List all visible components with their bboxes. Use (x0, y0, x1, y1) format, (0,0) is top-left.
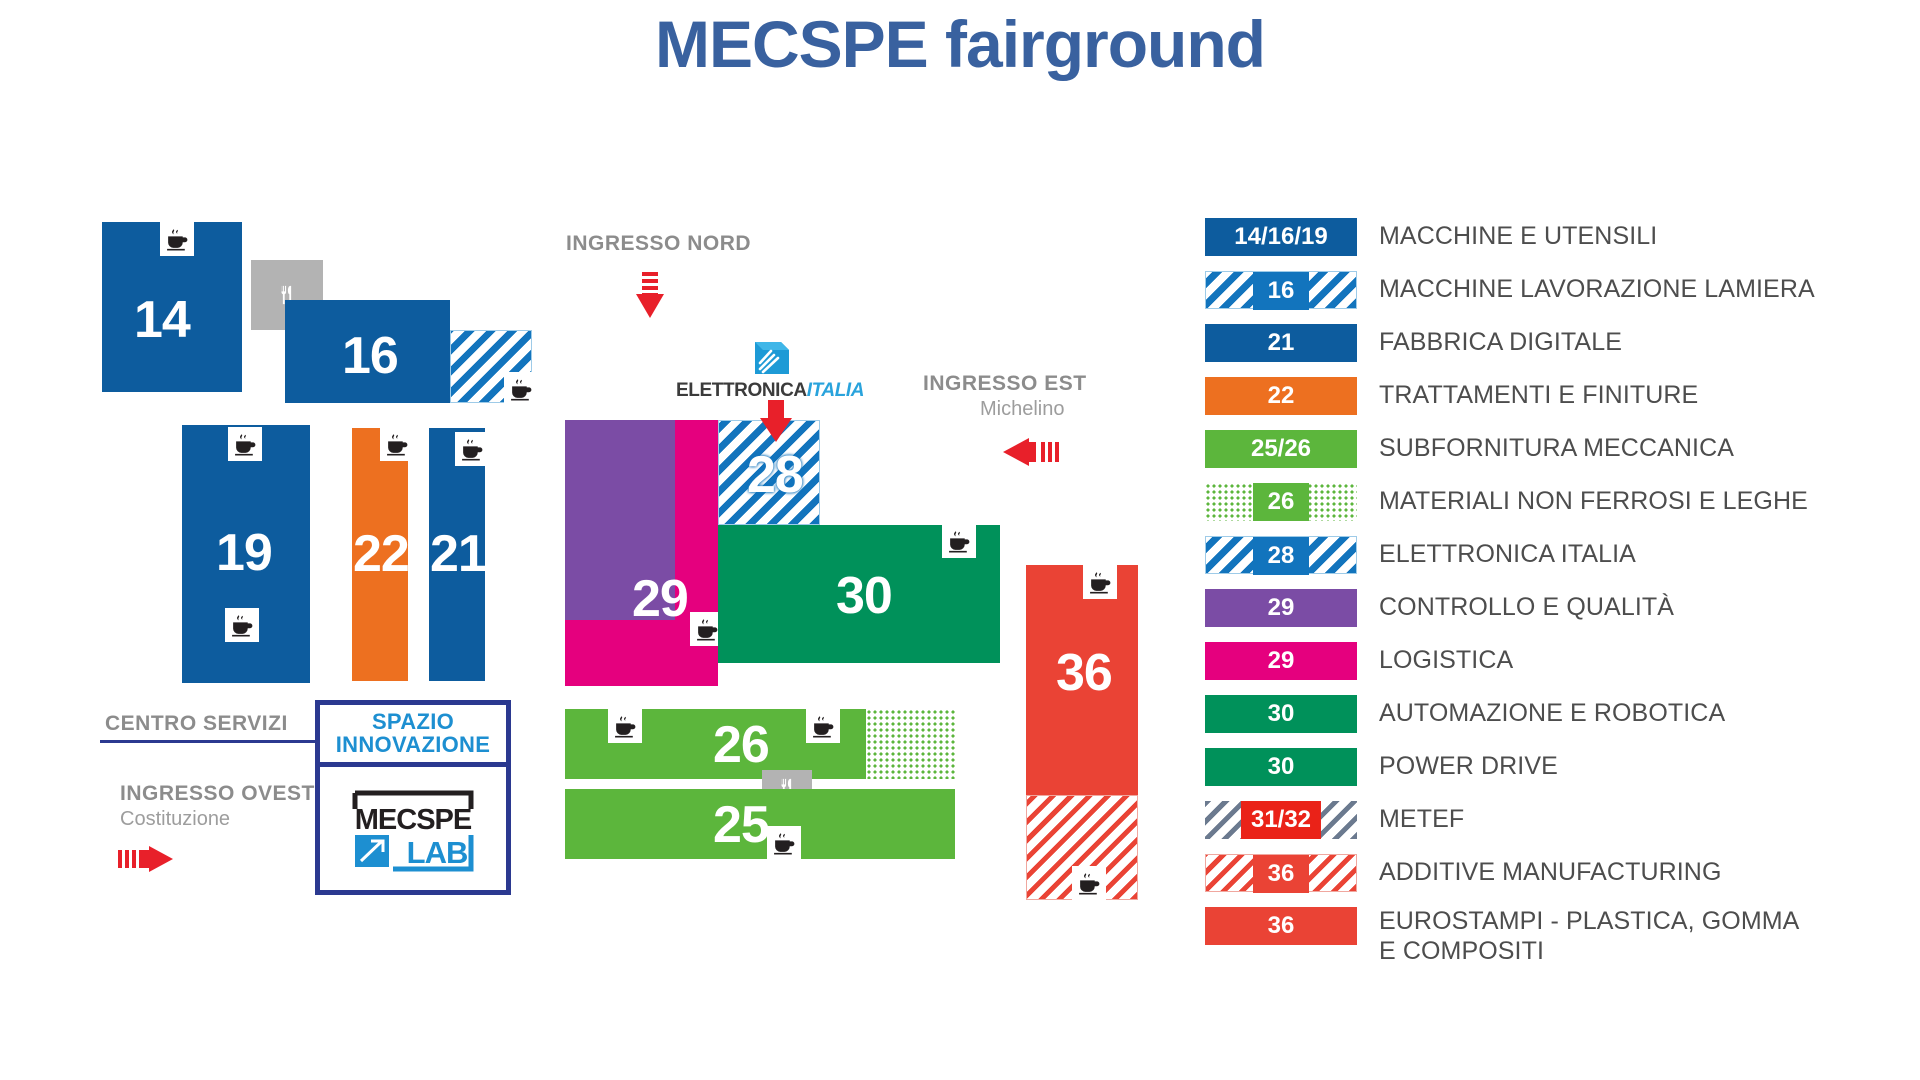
legend-code: 31/32 (1241, 801, 1321, 839)
legend-code: 30 (1268, 700, 1295, 728)
legend-row: 31/32METEF (1205, 801, 1905, 839)
legend-swatch: 30 (1205, 748, 1357, 786)
hall-36-number: 36 (1056, 647, 1112, 699)
legend-label: TRATTAMENTI E FINITURE (1379, 381, 1698, 411)
legend-code: 22 (1268, 382, 1295, 410)
legend-label: MATERIALI NON FERROSI E LEGHE (1379, 487, 1808, 517)
coffee-icon (380, 427, 414, 461)
legend-code: 36 (1253, 855, 1309, 893)
coffee-icon (455, 432, 489, 466)
legend-label: FABBRICA DIGITALE (1379, 328, 1622, 358)
legend-code: 30 (1268, 753, 1295, 781)
legend-row: 28ELETTRONICA ITALIA (1205, 536, 1905, 574)
legend-row: 14/16/19MACCHINE E UTENSILI (1205, 218, 1905, 256)
arrow-icon (756, 400, 796, 449)
legend-swatch: 29 (1205, 642, 1357, 680)
centro-servizi-connector (100, 740, 315, 743)
legend-swatch: 31/32 (1205, 801, 1357, 839)
legend-label: LOGISTICA (1379, 646, 1513, 676)
legend-label: SUBFORNITURA MECCANICA (1379, 434, 1734, 464)
ingresso-ovest-sublabel: Costituzione (120, 808, 230, 831)
coffee-icon (1083, 565, 1117, 599)
spazio-innovazione-box[interactable]: SPAZIO INNOVAZIONE MECSPE LAB (315, 700, 511, 895)
legend-label: CONTROLLO E QUALITÀ (1379, 593, 1674, 623)
centro-servizi-label: CENTRO SERVIZI (105, 712, 288, 736)
legend-label: ELETTRONICA ITALIA (1379, 540, 1636, 570)
legend-swatch: 14/16/19 (1205, 218, 1357, 256)
legend-label: AUTOMAZIONE E ROBOTICA (1379, 699, 1725, 729)
legend-code: 14/16/19 (1234, 223, 1327, 251)
legend-label: MACCHINE LAVORAZIONE LAMIERA (1379, 275, 1815, 305)
hall-25-number: 25 (713, 799, 769, 851)
ingresso-nord-label: INGRESSO NORD (566, 232, 751, 256)
coffee-icon (1072, 866, 1106, 900)
mecspe-lab-logo: MECSPE LAB (320, 767, 506, 890)
legend-code: 26 (1253, 483, 1309, 521)
hall-25[interactable]: 25 (565, 789, 955, 859)
legend-label: ADDITIVE MANUFACTURING (1379, 858, 1722, 888)
coffee-icon (942, 524, 976, 558)
legend-swatch: 29 (1205, 589, 1357, 627)
legend-row: 22TRATTAMENTI E FINITURE (1205, 377, 1905, 415)
hall-19-number: 19 (216, 527, 272, 579)
hall-22[interactable]: 22 (352, 428, 408, 681)
coffee-icon (504, 372, 538, 406)
hall-19[interactable]: 19 (182, 425, 310, 683)
legend-swatch: 16 (1205, 271, 1357, 309)
legend-row: 30AUTOMAZIONE E ROBOTICA (1205, 695, 1905, 733)
coffee-icon (608, 709, 642, 743)
hall-21-number: 21 (430, 528, 485, 580)
fairground-map: 14 16 19 22 21 29 28 (0, 0, 1200, 1080)
ingresso-est-sublabel: Michelino (980, 398, 1064, 421)
legend-label: POWER DRIVE (1379, 752, 1558, 782)
svg-text:MECSPE: MECSPE (355, 804, 472, 836)
legend-row: 36EUROSTAMPI - PLASTICA, GOMMA E COMPOSI… (1205, 907, 1905, 959)
elettronica-word: ELETTRONICA (676, 380, 807, 401)
hall-16-number: 16 (342, 330, 398, 382)
legend-label: EUROSTAMPI - PLASTICA, GOMMA E COMPOSITI (1379, 907, 1809, 966)
hall-29-number: 29 (632, 573, 688, 625)
legend-code: 29 (1268, 594, 1295, 622)
legend-row: 26MATERIALI NON FERROSI E LEGHE (1205, 483, 1905, 521)
legend-row: 29LOGISTICA (1205, 642, 1905, 680)
legend-code: 21 (1268, 329, 1295, 357)
hall-22-number: 22 (353, 528, 408, 580)
legend-swatch: 30 (1205, 695, 1357, 733)
coffee-icon (767, 826, 801, 860)
arrow-icon (113, 843, 173, 880)
hall-36[interactable]: 36 (1026, 565, 1138, 795)
legend-code: 25/26 (1251, 435, 1311, 463)
italia-word: ITALIA (807, 380, 864, 401)
spazio-line2: INNOVAZIONE (336, 734, 490, 756)
spazio-line1: SPAZIO (372, 711, 454, 733)
svg-text:LAB: LAB (407, 835, 468, 870)
hall-30-number: 30 (836, 570, 892, 622)
elettronica-italia-logo: ELETTRONICAITALIA (676, 338, 864, 402)
spazio-innovazione-header: SPAZIO INNOVAZIONE (320, 705, 506, 767)
hall-26-number: 26 (713, 719, 769, 771)
legend-swatch: 21 (1205, 324, 1357, 362)
ingresso-est-label: INGRESSO EST (923, 372, 1087, 396)
legend-swatch: 28 (1205, 536, 1357, 574)
legend-row: 21FABBRICA DIGITALE (1205, 324, 1905, 362)
elettronica-logo-text: ELETTRONICAITALIA (676, 380, 864, 402)
legend-label: METEF (1379, 805, 1464, 835)
arrow-icon (1003, 435, 1065, 474)
legend-swatch: 25/26 (1205, 430, 1357, 468)
coffee-icon (228, 427, 262, 461)
legend-code: 16 (1253, 272, 1309, 310)
legend: 14/16/19MACCHINE E UTENSILI16MACCHINE LA… (1205, 218, 1905, 974)
hall-28-number: 28 (747, 449, 803, 501)
legend-row: 25/26SUBFORNITURA MECCANICA (1205, 430, 1905, 468)
legend-swatch: 36 (1205, 854, 1357, 892)
coffee-icon (160, 222, 194, 256)
ingresso-ovest-label: INGRESSO OVEST (120, 782, 315, 806)
legend-code: 28 (1253, 537, 1309, 575)
legend-swatch: 36 (1205, 907, 1357, 945)
legend-row: 16MACCHINE LAVORAZIONE LAMIERA (1205, 271, 1905, 309)
hall-16[interactable]: 16 (285, 300, 450, 403)
hall-14-number: 14 (134, 294, 190, 346)
elettronica-chip-icon (749, 338, 791, 378)
coffee-icon (225, 608, 259, 642)
legend-row: 36ADDITIVE MANUFACTURING (1205, 854, 1905, 892)
legend-swatch: 26 (1205, 483, 1357, 521)
legend-swatch: 22 (1205, 377, 1357, 415)
arrow-icon (632, 272, 668, 325)
legend-code: 29 (1268, 647, 1295, 675)
legend-row: 30POWER DRIVE (1205, 748, 1905, 786)
legend-label: MACCHINE E UTENSILI (1379, 222, 1657, 252)
legend-row: 29CONTROLLO E QUALITÀ (1205, 589, 1905, 627)
legend-code: 36 (1268, 912, 1295, 940)
coffee-icon (806, 709, 840, 743)
hall-26-dotted-area[interactable] (866, 709, 955, 779)
